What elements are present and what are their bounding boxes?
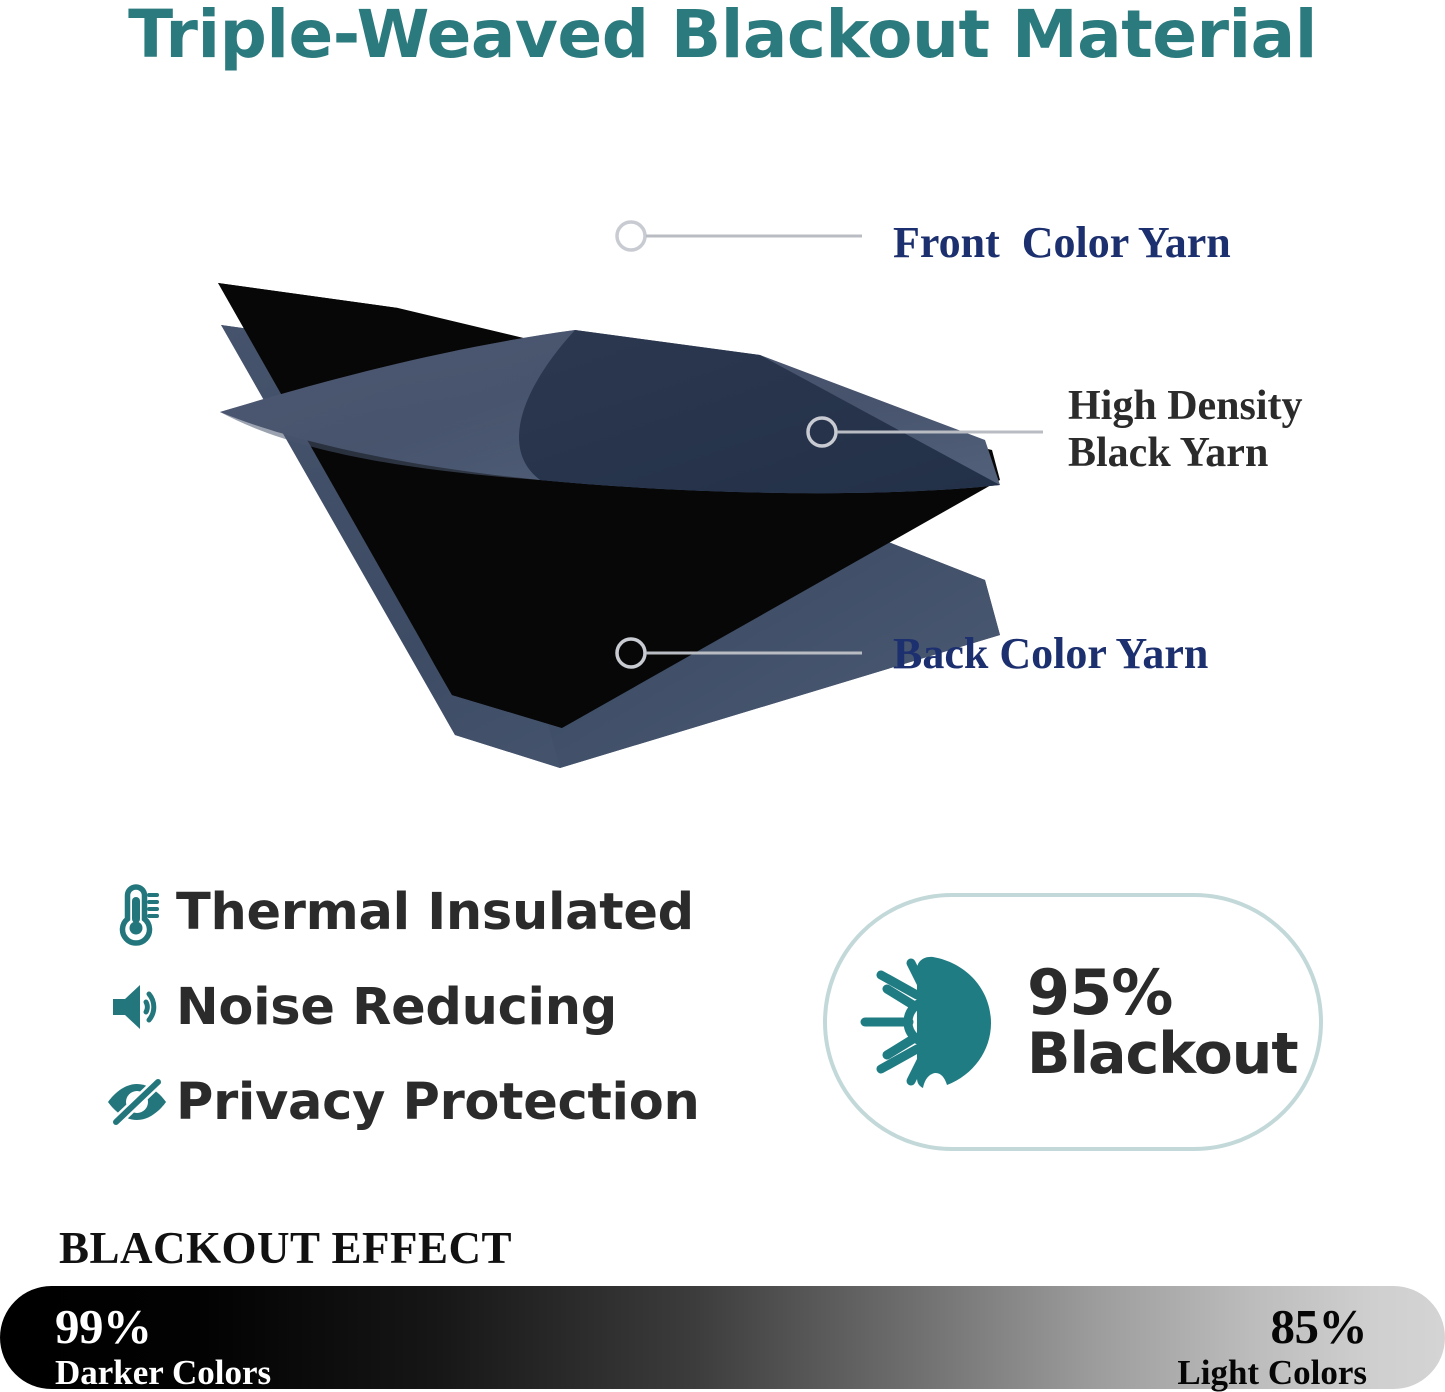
blackout-effect-gradient-bar: 99% Darker Colors 85% Light Colors	[0, 1286, 1445, 1389]
feature-noise-reducing: Noise Reducing	[98, 963, 798, 1051]
label-high-density-black-yarn: High Density Black Yarn	[1068, 383, 1398, 477]
badge-word: Blackout	[1027, 1025, 1298, 1084]
label-back-color-yarn: Back Color Yarn	[893, 629, 1208, 678]
eye-off-icon	[98, 1076, 176, 1128]
feature-label: Thermal Insulated	[176, 883, 694, 942]
thermometer-icon	[98, 877, 176, 947]
sun-blocked-icon	[827, 947, 1027, 1097]
feature-list: Thermal Insulated Noise Reducing Privacy…	[98, 868, 798, 1153]
effect-caption: Darker Colors	[55, 1355, 271, 1390]
speaker-icon	[98, 978, 176, 1036]
effect-caption: Light Colors	[1177, 1355, 1367, 1390]
effect-percent: 99%	[55, 1302, 271, 1351]
effect-segment-darker: 99% Darker Colors	[55, 1302, 271, 1390]
effect-percent: 85%	[1177, 1302, 1367, 1351]
leader-line-front	[617, 222, 862, 250]
effect-segment-light: 85% Light Colors	[1177, 1302, 1367, 1390]
feature-privacy-protection: Privacy Protection	[98, 1058, 798, 1146]
blackout-badge: 95% Blackout	[823, 893, 1323, 1151]
feature-label: Privacy Protection	[176, 1073, 699, 1132]
page-title: Triple-Weaved Blackout Material	[0, 0, 1445, 73]
feature-label: Noise Reducing	[176, 978, 617, 1037]
blackout-effect-heading: BLACKOUT EFFECT	[59, 1222, 512, 1274]
badge-percent: 95%	[1027, 961, 1298, 1025]
feature-thermal-insulated: Thermal Insulated	[98, 868, 798, 956]
badge-text-block: 95% Blackout	[1027, 961, 1298, 1084]
label-front-color-yarn: Front Color Yarn	[893, 218, 1231, 267]
